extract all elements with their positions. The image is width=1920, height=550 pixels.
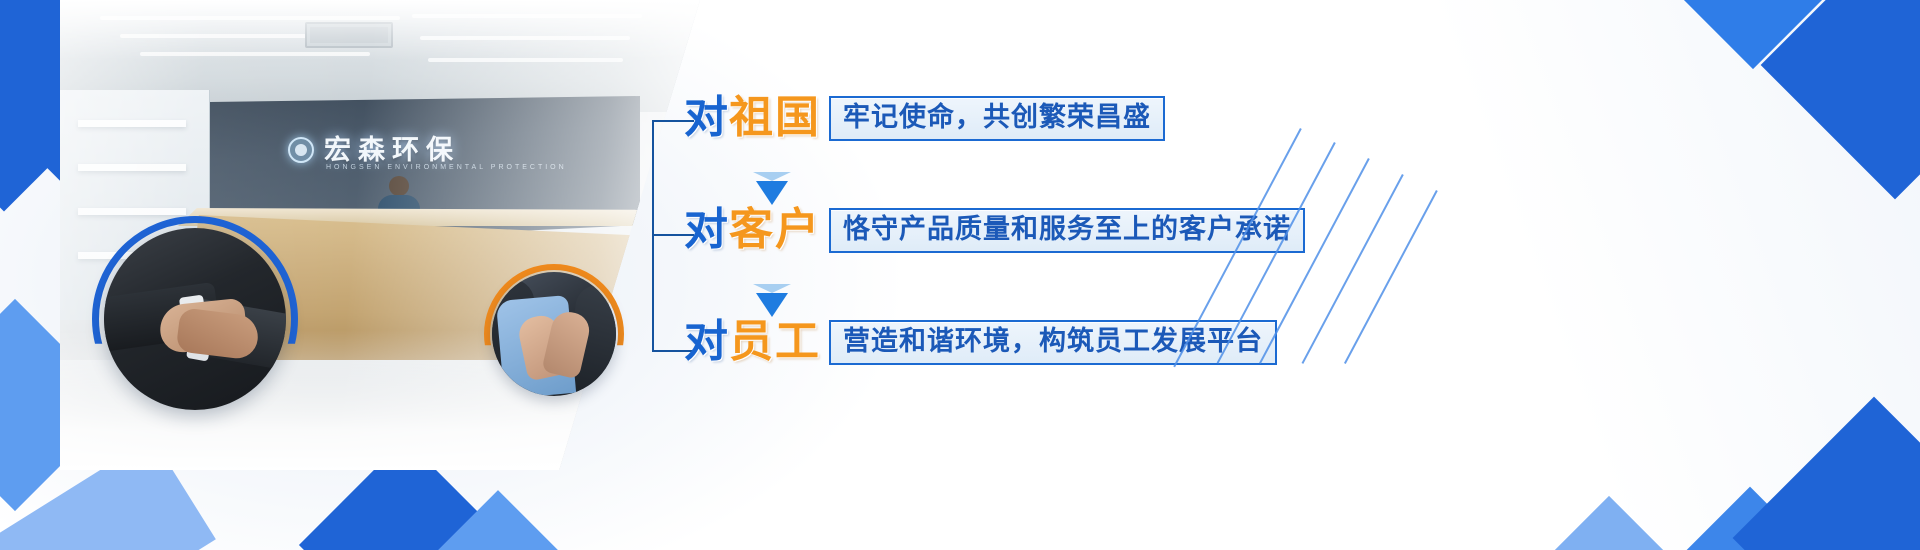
handshake-photo [104,228,286,410]
photo-fade-top [60,0,700,60]
value-row-1-key: 祖国 [729,96,821,140]
value-row-1-prefix: 对 [684,96,729,140]
values-list: 对 祖国 牢记使命，共创繁荣昌盛 对 客户 恪守产品质量和服务至上的客户承诺 对… [652,84,1352,384]
company-values-banner: 宏森环保 HONGSEN ENVIRONMENTAL PROTECTION [0,0,1920,550]
value-row-3-prefix: 对 [684,320,729,364]
applause-photo [492,272,616,396]
value-row-1-label: 对 祖国 [684,96,821,140]
value-row-2-label: 对 客户 [684,208,821,252]
decor-diagonal-lines [1290,128,1590,458]
value-row-3-key: 员工 [729,320,821,364]
value-row-2: 对 客户 恪守产品质量和服务至上的客户承诺 [684,208,1305,253]
value-row-3-statement: 营造和谐环境，构筑员工发展平台 [829,320,1277,365]
value-row-1: 对 祖国 牢记使命，共创繁荣昌盛 [684,96,1165,141]
value-row-1-statement: 牢记使命，共创繁荣昌盛 [829,96,1165,141]
value-row-2-statement: 恪守产品质量和服务至上的客户承诺 [829,208,1305,253]
value-row-3-label: 对 员工 [684,320,821,364]
value-row-2-prefix: 对 [684,208,729,252]
value-row-2-key: 客户 [729,208,821,252]
